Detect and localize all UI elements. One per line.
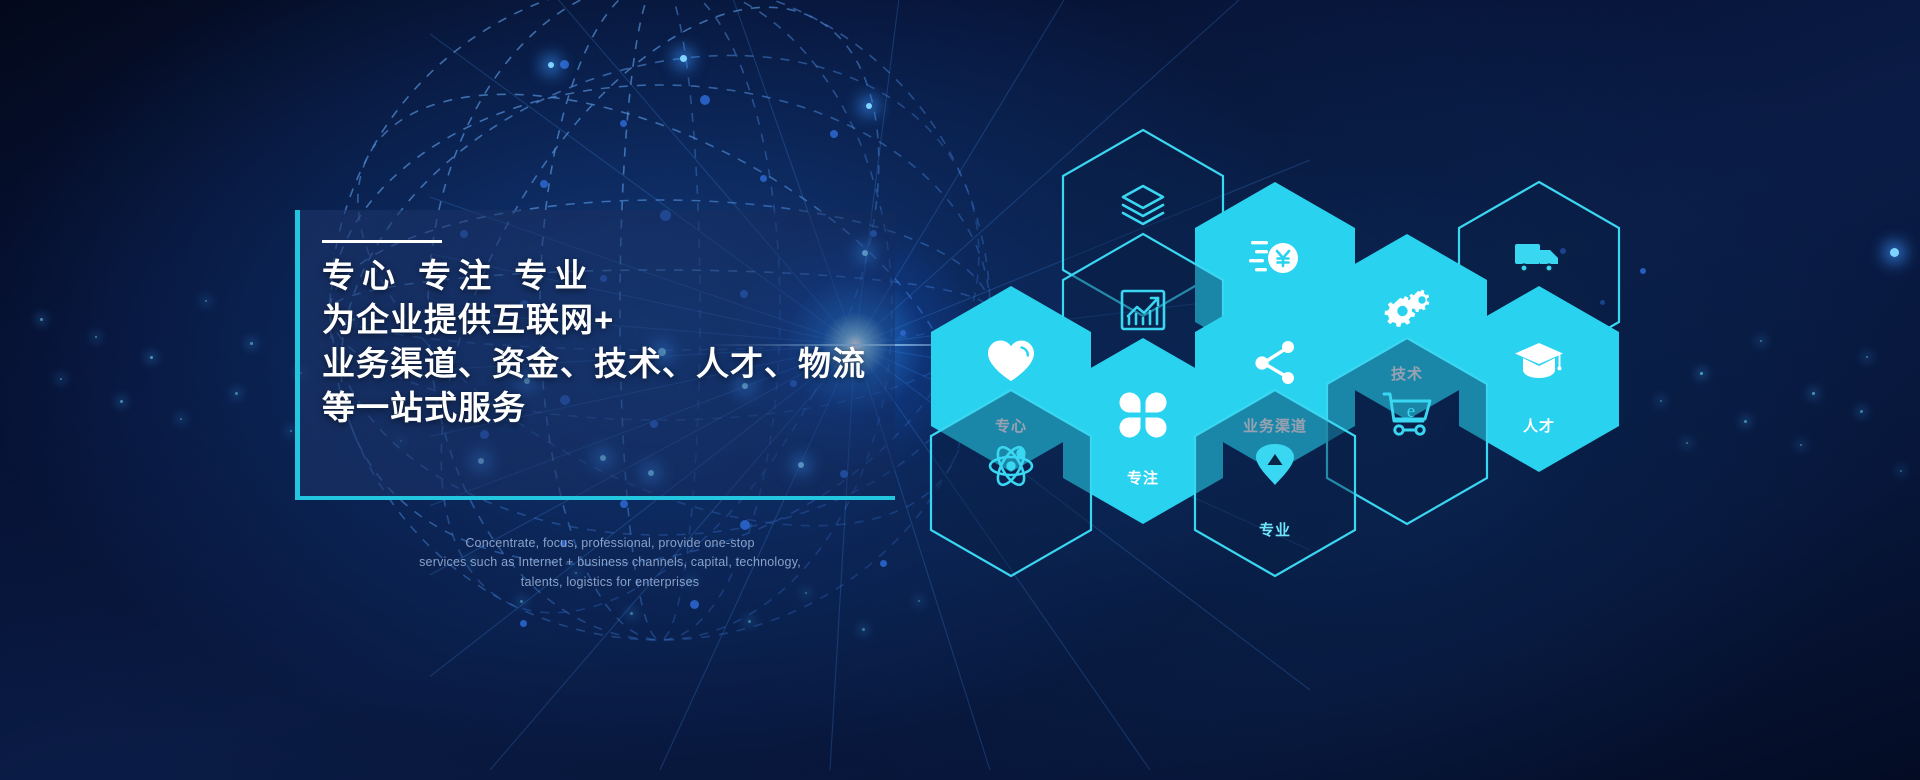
graduation-cap-icon xyxy=(1513,336,1565,393)
layers-icon xyxy=(1117,180,1169,237)
hexagon-tile-pro[interactable]: 专业 xyxy=(1192,388,1358,578)
truck-icon xyxy=(1513,232,1565,289)
hexagon-label: 专业 xyxy=(1192,519,1358,540)
bar-chart-icon xyxy=(1117,284,1169,341)
share-nodes-icon xyxy=(1249,336,1301,393)
yen-coin-icon xyxy=(1249,232,1301,289)
clover-icon xyxy=(1117,388,1169,445)
heart-icon xyxy=(985,336,1037,393)
hexagon-cluster: 资金 物流 技术 专心 业务渠道 人才 专注 e xyxy=(0,0,1920,780)
atom-icon xyxy=(985,440,1037,497)
shopping-cart-e-icon: e xyxy=(1381,388,1433,445)
gears-icon xyxy=(1381,284,1433,341)
banner-root: 专心 专注 专业 为企业提供互联网+ 业务渠道、资金、技术、人才、物流 等一站式… xyxy=(0,0,1920,780)
hexagon-tile-atom[interactable] xyxy=(928,388,1094,578)
svg-text:e: e xyxy=(1407,401,1415,422)
diamond-icon xyxy=(1249,440,1301,497)
